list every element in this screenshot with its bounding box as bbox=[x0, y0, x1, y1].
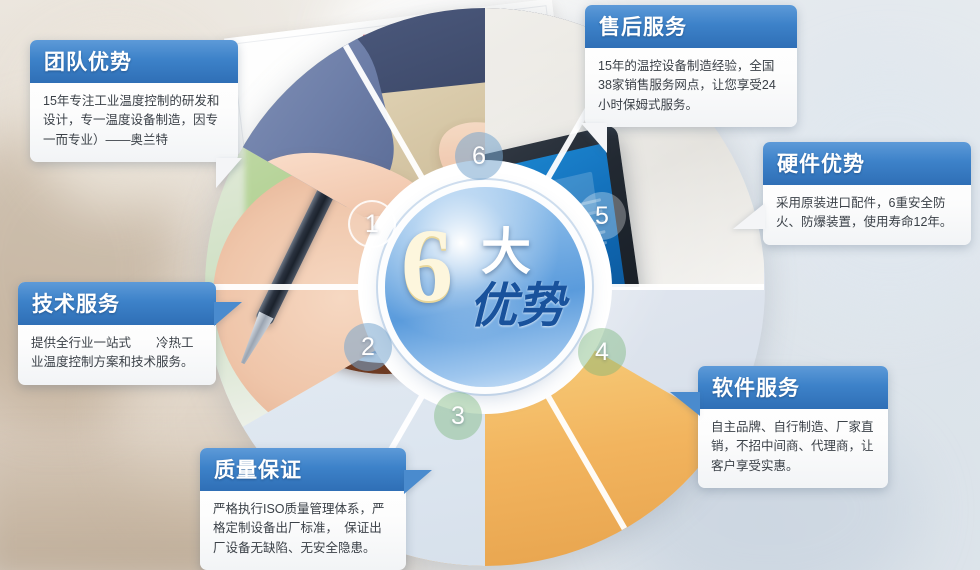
segment-number-3[interactable]: 3 bbox=[434, 392, 482, 440]
callout-tail bbox=[214, 302, 242, 326]
callout-body: 自主品牌、自行制造、厂家直销，不招中间商、代理商，让客户享受实惠。 bbox=[698, 409, 888, 488]
callout-body: 严格执行ISO质量管理体系，严格定制设备出厂标准， 保证出厂设备无缺陷、无安全隐… bbox=[200, 491, 406, 570]
callout-tail bbox=[670, 392, 700, 416]
callout-technical-service[interactable]: 技术服务 提供全行业一站式 冷热工业温度控制方案和技术服务。 bbox=[18, 282, 216, 385]
callout-body: 15年的温控设备制造经验，全国38家销售服务网点，让您享受24小时保姆式服务。 bbox=[585, 48, 797, 127]
segment-number-6[interactable]: 6 bbox=[455, 132, 503, 180]
callout-body: 15年专注工业温度控制的研发和设计，专一温度设备制造，因专一而专业）——奥兰特 bbox=[30, 83, 238, 162]
callout-hardware-advantage[interactable]: 硬件优势 采用原装进口配件，6重安全防火、防爆装置，使用寿命12年。 bbox=[763, 142, 971, 245]
callout-title: 软件服务 bbox=[698, 366, 888, 409]
center-badge: 6 大 优势 bbox=[385, 187, 585, 387]
badge-number: 6 bbox=[401, 218, 453, 314]
callout-body: 提供全行业一站式 冷热工业温度控制方案和技术服务。 bbox=[18, 325, 216, 385]
badge-word-sub: 优势 bbox=[469, 266, 565, 336]
segment-number-4[interactable]: 4 bbox=[578, 328, 626, 376]
callout-body: 采用原装进口配件，6重安全防火、防爆装置，使用寿命12年。 bbox=[763, 185, 971, 245]
callout-title: 技术服务 bbox=[18, 282, 216, 325]
segment-number-2[interactable]: 2 bbox=[344, 323, 392, 371]
callout-title: 售后服务 bbox=[585, 5, 797, 48]
callout-software-service[interactable]: 软件服务 自主品牌、自行制造、厂家直销，不招中间商、代理商，让客户享受实惠。 bbox=[698, 366, 888, 488]
callout-after-sales-service[interactable]: 售后服务 15年的温控设备制造经验，全国38家销售服务网点，让您享受24小时保姆… bbox=[585, 5, 797, 127]
callout-title: 团队优势 bbox=[30, 40, 238, 83]
callout-quality-guarantee[interactable]: 质量保证 严格执行ISO质量管理体系，严格定制设备出厂标准， 保证出厂设备无缺陷… bbox=[200, 448, 406, 570]
callout-title: 硬件优势 bbox=[763, 142, 971, 185]
segment-number-5[interactable]: 5 bbox=[578, 192, 626, 240]
callout-tail bbox=[216, 158, 242, 188]
callout-tail bbox=[581, 123, 607, 153]
segment-number-1[interactable]: 1 bbox=[348, 200, 396, 248]
callout-tail bbox=[404, 470, 432, 494]
infographic-stage: 6 大 优势 1 2 3 4 5 6 团队优势 15年专注工业温度控制的研发和设… bbox=[0, 0, 980, 570]
callout-team-advantage[interactable]: 团队优势 15年专注工业温度控制的研发和设计，专一温度设备制造，因专一而专业）—… bbox=[30, 40, 238, 162]
callout-title: 质量保证 bbox=[200, 448, 406, 491]
callout-tail bbox=[733, 203, 765, 229]
